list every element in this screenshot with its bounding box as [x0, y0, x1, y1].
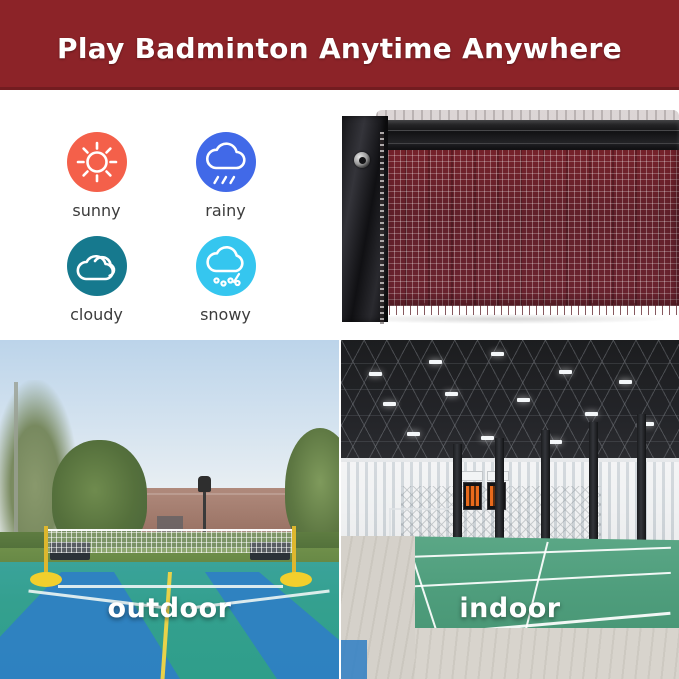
lamp-head: [198, 476, 211, 492]
ceiling-light: [559, 370, 572, 374]
badminton-net-photo: [330, 90, 679, 338]
ceiling-light: [429, 360, 442, 364]
support-column: [495, 438, 504, 548]
sun-icon: [67, 132, 127, 192]
ceiling-light: [369, 372, 382, 376]
net-tension-rope: [380, 132, 384, 324]
support-column: [541, 430, 550, 548]
outdoor-court-photo: outdoor: [0, 340, 339, 679]
net-assembly: [336, 102, 679, 330]
scoreboard-leds: [466, 486, 479, 506]
tree-trunk: [14, 382, 18, 542]
cloud-snow-icon: [196, 236, 256, 296]
weather-label-sunny: sunny: [72, 201, 120, 220]
net-grommet: [354, 152, 370, 168]
weather-icon-grid: sunny rainy: [32, 132, 290, 340]
exit-sign: [461, 471, 483, 481]
ceiling-light: [407, 432, 420, 436]
ceiling-light: [481, 436, 494, 440]
support-column: [637, 414, 646, 548]
weather-label-snowy: snowy: [200, 305, 251, 324]
cloud-rain-icon: [196, 132, 256, 192]
indoor-court-photo: indoor: [341, 340, 679, 679]
weather-conditions-panel: sunny rainy: [0, 90, 330, 338]
caption-indoor: indoor: [341, 593, 679, 624]
ceiling-light: [619, 380, 632, 384]
usage-scenes: outdoor: [0, 340, 679, 679]
portable-net: [46, 529, 296, 553]
net-base-right: [280, 572, 312, 587]
ceiling-light: [445, 392, 458, 396]
net-drop-shadow: [342, 314, 669, 324]
weather-label-rainy: rainy: [205, 201, 245, 220]
scoreboard-left: [463, 482, 482, 510]
net-top-tape: [354, 120, 679, 150]
net-mesh: [382, 138, 679, 306]
ceiling-light: [549, 440, 562, 444]
weather-item-snowy: snowy: [161, 236, 290, 340]
court-service-line: [58, 585, 283, 588]
net-base-left: [30, 572, 62, 587]
net-post-left: [44, 526, 48, 576]
support-column: [589, 422, 598, 548]
ceiling-light: [491, 352, 504, 356]
cloud-icon: [67, 236, 127, 296]
net-post-right: [292, 526, 296, 576]
weather-item-cloudy: cloudy: [32, 236, 161, 340]
adjacent-blue-court: [341, 640, 367, 679]
header-banner: Play Badminton Anytime Anywhere: [0, 0, 679, 90]
ceiling-light: [383, 402, 396, 406]
weather-label-cloudy: cloudy: [70, 305, 123, 324]
support-column: [453, 444, 462, 548]
goal-frame: [389, 508, 455, 538]
product-marketing-image: Play Badminton Anytime Anywhere: [0, 0, 679, 679]
ceiling-light: [517, 398, 530, 402]
ceiling-light: [585, 412, 598, 416]
caption-outdoor: outdoor: [0, 593, 339, 624]
weather-item-sunny: sunny: [32, 132, 161, 236]
page-title: Play Badminton Anytime Anywhere: [0, 0, 679, 90]
weather-item-rainy: rainy: [161, 132, 290, 236]
